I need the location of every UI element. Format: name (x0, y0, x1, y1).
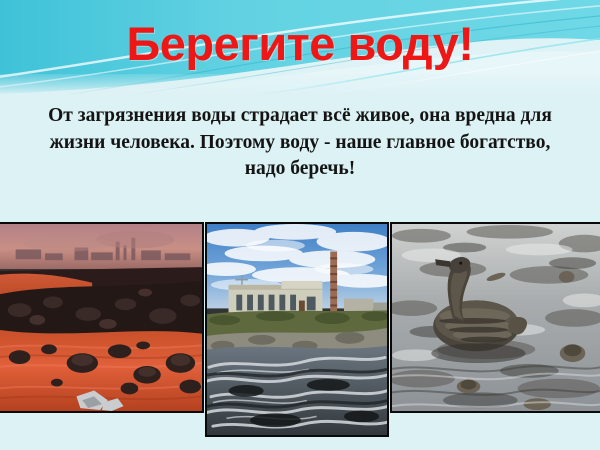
polluted-river-illustration (0, 224, 202, 411)
factory-river-photo (205, 222, 389, 437)
oiled-swan-illustration (392, 224, 600, 411)
slide-canvas: Берегите воду! От загрязнения воды страд… (0, 0, 600, 450)
oiled-swan-photo (390, 222, 600, 413)
slide-title: Берегите воду! (0, 18, 600, 70)
slide-body-text: От загрязнения воды страдает всё живое, … (28, 103, 572, 183)
factory-river-illustration (207, 224, 387, 435)
polluted-river-photo (0, 222, 204, 413)
